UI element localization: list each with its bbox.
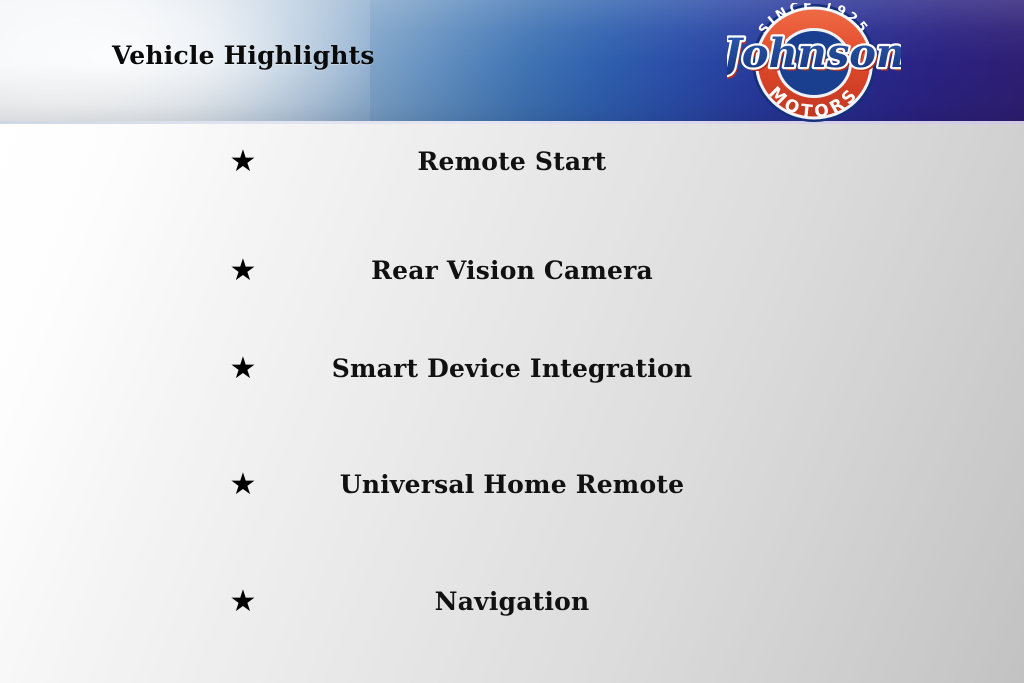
johnson-motors-logo: SINCE 1925 MOTORS Johnson Johnson xyxy=(727,3,901,123)
feature-label: Universal Home Remote xyxy=(0,462,1024,508)
list-item: ★ Rear Vision Camera xyxy=(0,248,1024,294)
page-title: Vehicle Highlights xyxy=(112,41,375,70)
feature-label: Remote Start xyxy=(0,139,1024,185)
logo-script-text: Johnson xyxy=(727,30,901,77)
feature-label: Navigation xyxy=(0,579,1024,625)
feature-highlights-list: ★ Remote Start ★ Rear Vision Camera ★ Sm… xyxy=(0,121,1024,683)
list-item: ★ Smart Device Integration xyxy=(0,346,1024,392)
feature-label: Smart Device Integration xyxy=(0,346,1024,392)
list-item: ★ Universal Home Remote xyxy=(0,462,1024,508)
presentation-slide: Vehicle Highlights xyxy=(0,0,1024,683)
list-item: ★ Navigation xyxy=(0,579,1024,625)
feature-label: Rear Vision Camera xyxy=(0,248,1024,294)
list-item: ★ Remote Start xyxy=(0,139,1024,185)
